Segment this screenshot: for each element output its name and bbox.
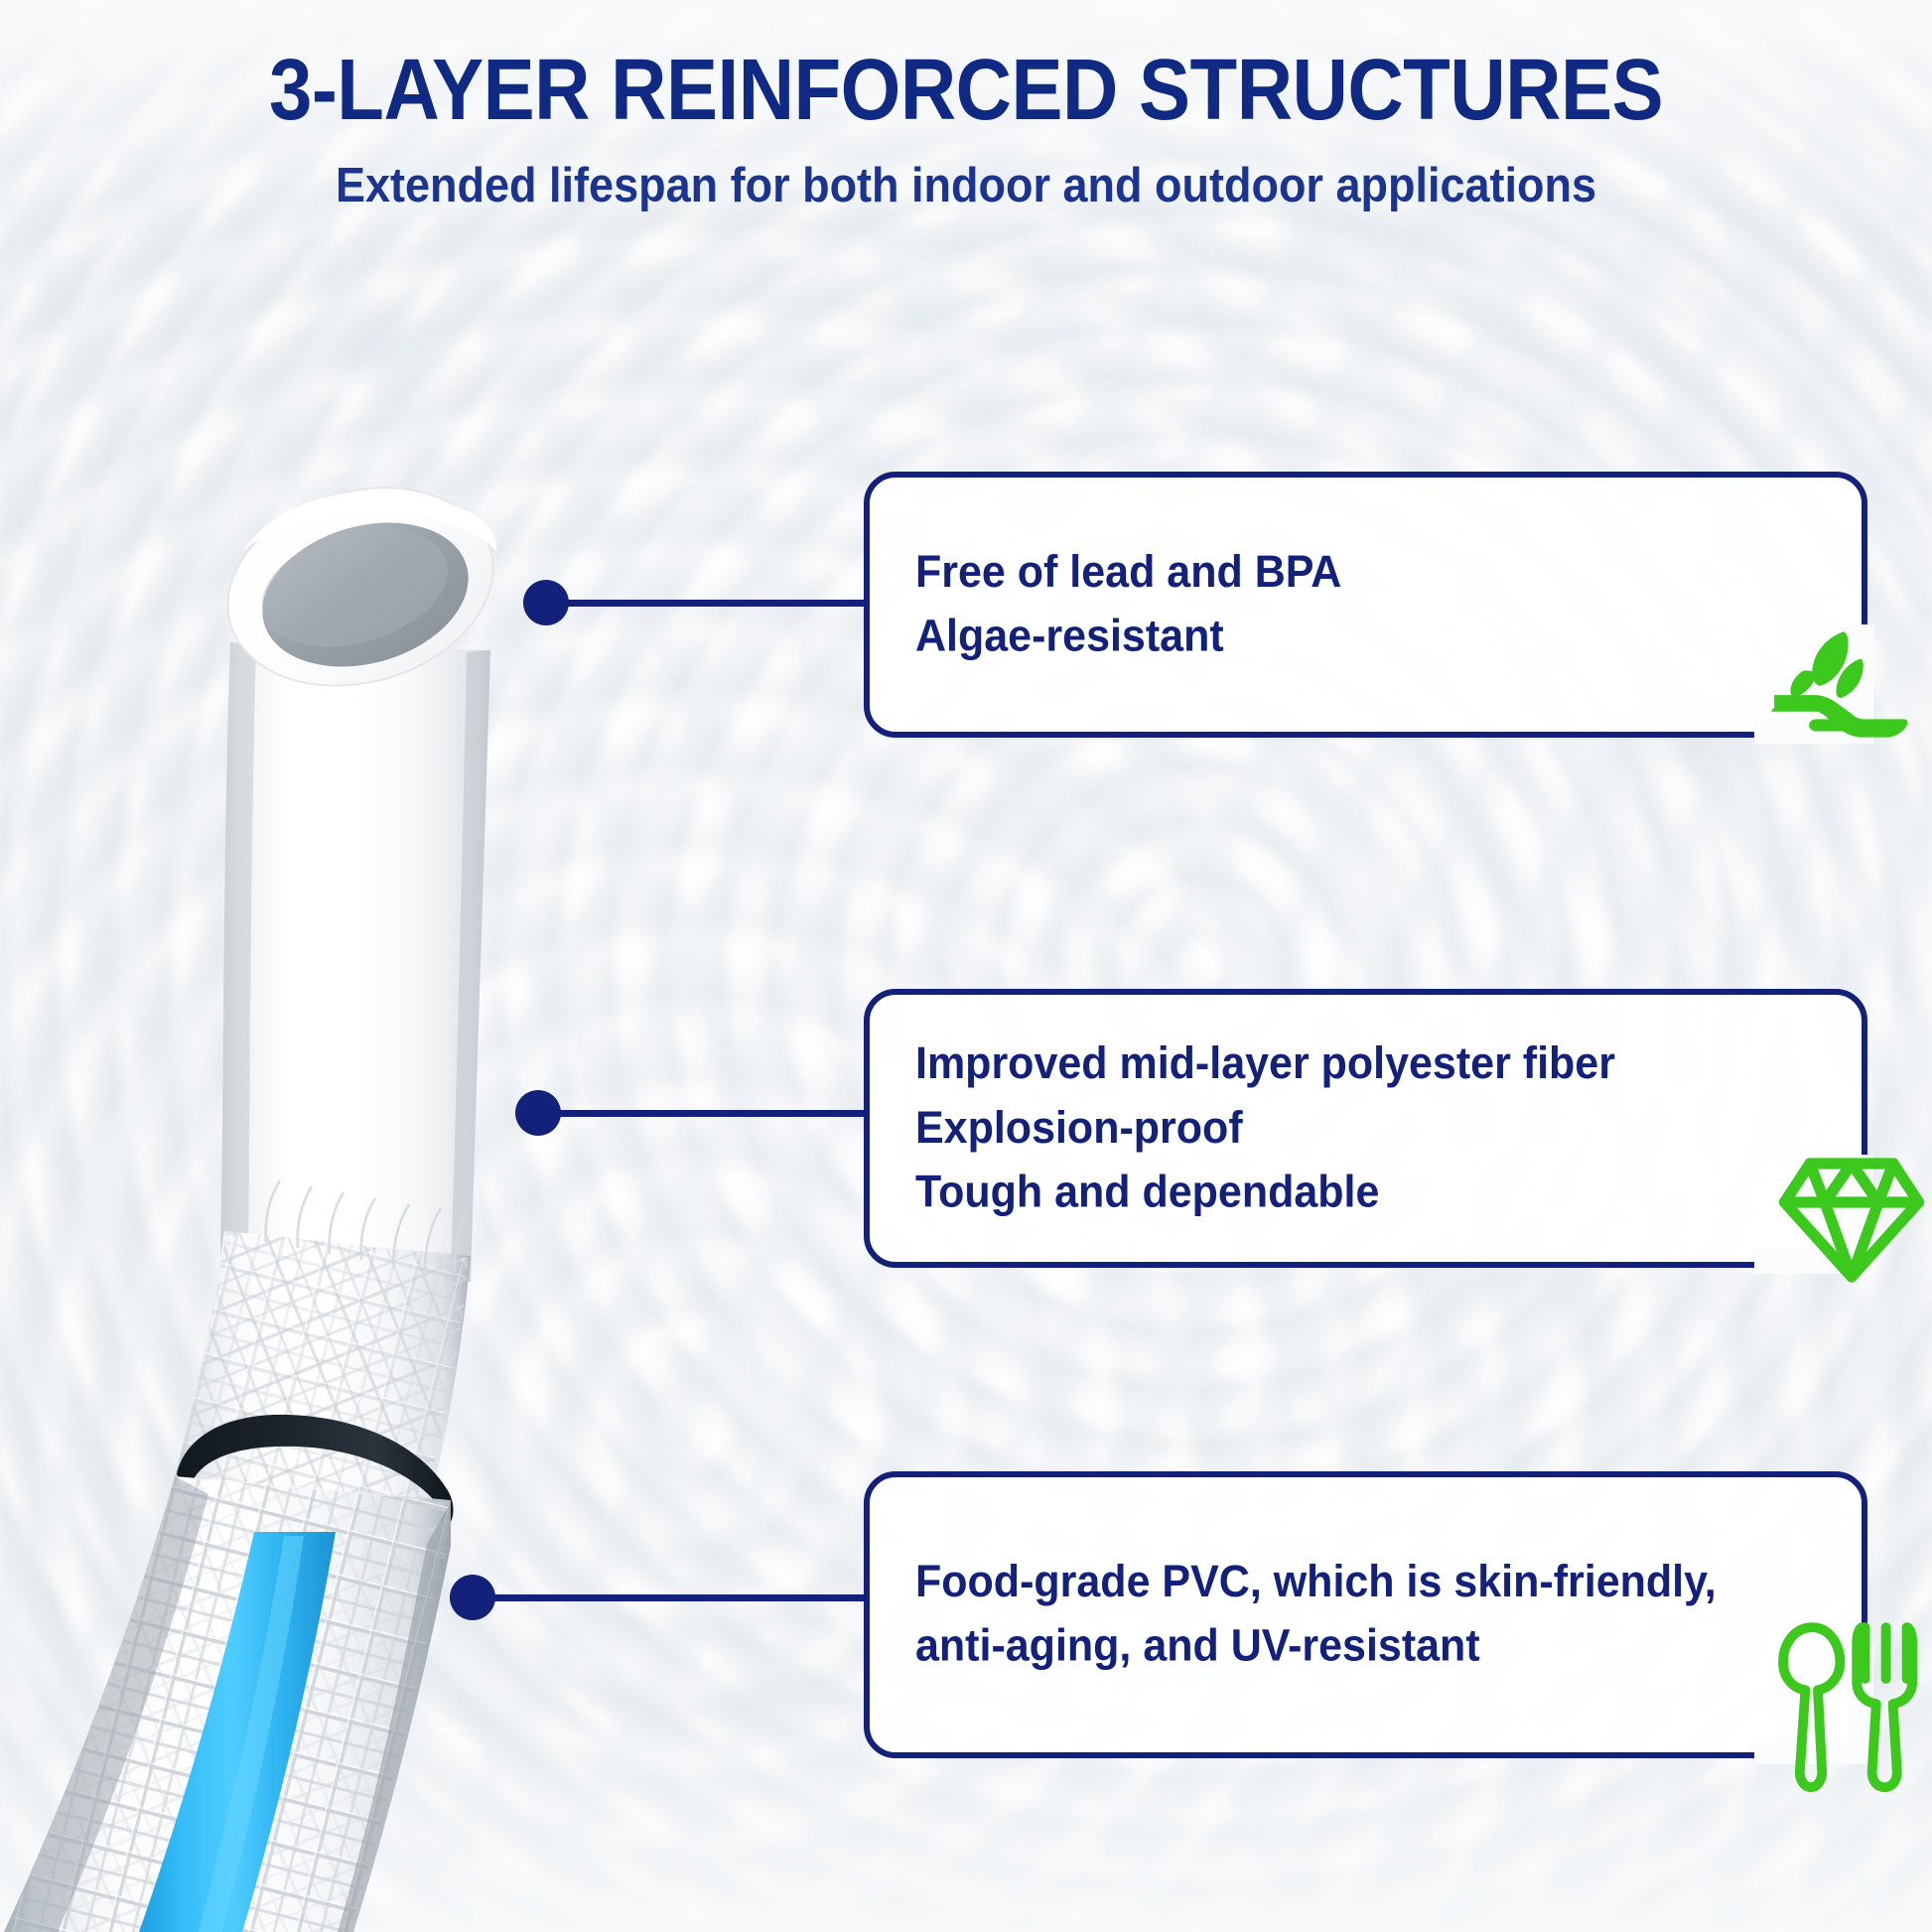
spoon-fork-icon-svg xyxy=(1775,1616,1930,1797)
spoon-fork-icon xyxy=(1775,1616,1930,1797)
callout-1-line-1: Free of lead and BPA xyxy=(915,540,1341,605)
page-title: 3-LAYER REINFORCED STRUCTURES xyxy=(0,46,1932,134)
connector-dot-3 xyxy=(450,1575,495,1620)
diamond-icon-svg xyxy=(1777,1140,1926,1289)
connector-line-3 xyxy=(473,1594,870,1601)
hose-outer-pvc-layer xyxy=(220,642,490,1282)
callout-box-1[interactable]: Free of lead and BPA Algae-resistant xyxy=(864,472,1867,738)
callout-3-text: Food-grade PVC, which is skin-friendly, … xyxy=(870,1551,1717,1679)
page-subtitle: Extended lifespan for both indoor and ou… xyxy=(0,159,1932,210)
diamond-icon xyxy=(1777,1140,1926,1289)
callout-box-3[interactable]: Food-grade PVC, which is skin-friendly, … xyxy=(864,1471,1867,1758)
header: 3-LAYER REINFORCED STRUCTURES Extended l… xyxy=(0,46,1932,206)
callout-3-line-2: anti-aging, and UV-resistant xyxy=(915,1615,1717,1680)
eco-hand-leaf-icon xyxy=(1765,614,1916,764)
callout-box-2[interactable]: Improved mid-layer polyester fiber Explo… xyxy=(864,989,1867,1268)
infographic-canvas: 3-LAYER REINFORCED STRUCTURES Extended l… xyxy=(0,0,1932,1932)
connector-line-2 xyxy=(538,1110,870,1117)
product-hose-image xyxy=(0,253,755,1932)
callout-3-line-1: Food-grade PVC, which is skin-friendly, xyxy=(915,1551,1717,1615)
callout-1-line-2: Algae-resistant xyxy=(915,605,1341,669)
callout-1-text: Free of lead and BPA Algae-resistant xyxy=(870,540,1341,668)
connector-dot-2 xyxy=(515,1090,561,1136)
callout-2-line-1: Improved mid-layer polyester fiber xyxy=(915,1032,1615,1096)
eco-hand-leaf-icon-svg xyxy=(1765,614,1916,764)
callout-2-line-3: Tough and dependable xyxy=(915,1161,1615,1225)
callout-2-text: Improved mid-layer polyester fiber Explo… xyxy=(870,1032,1615,1224)
connector-dot-1 xyxy=(523,580,569,625)
callout-2-line-2: Explosion-proof xyxy=(915,1096,1615,1161)
hose-illustration xyxy=(0,253,755,1932)
connector-line-1 xyxy=(546,600,870,607)
